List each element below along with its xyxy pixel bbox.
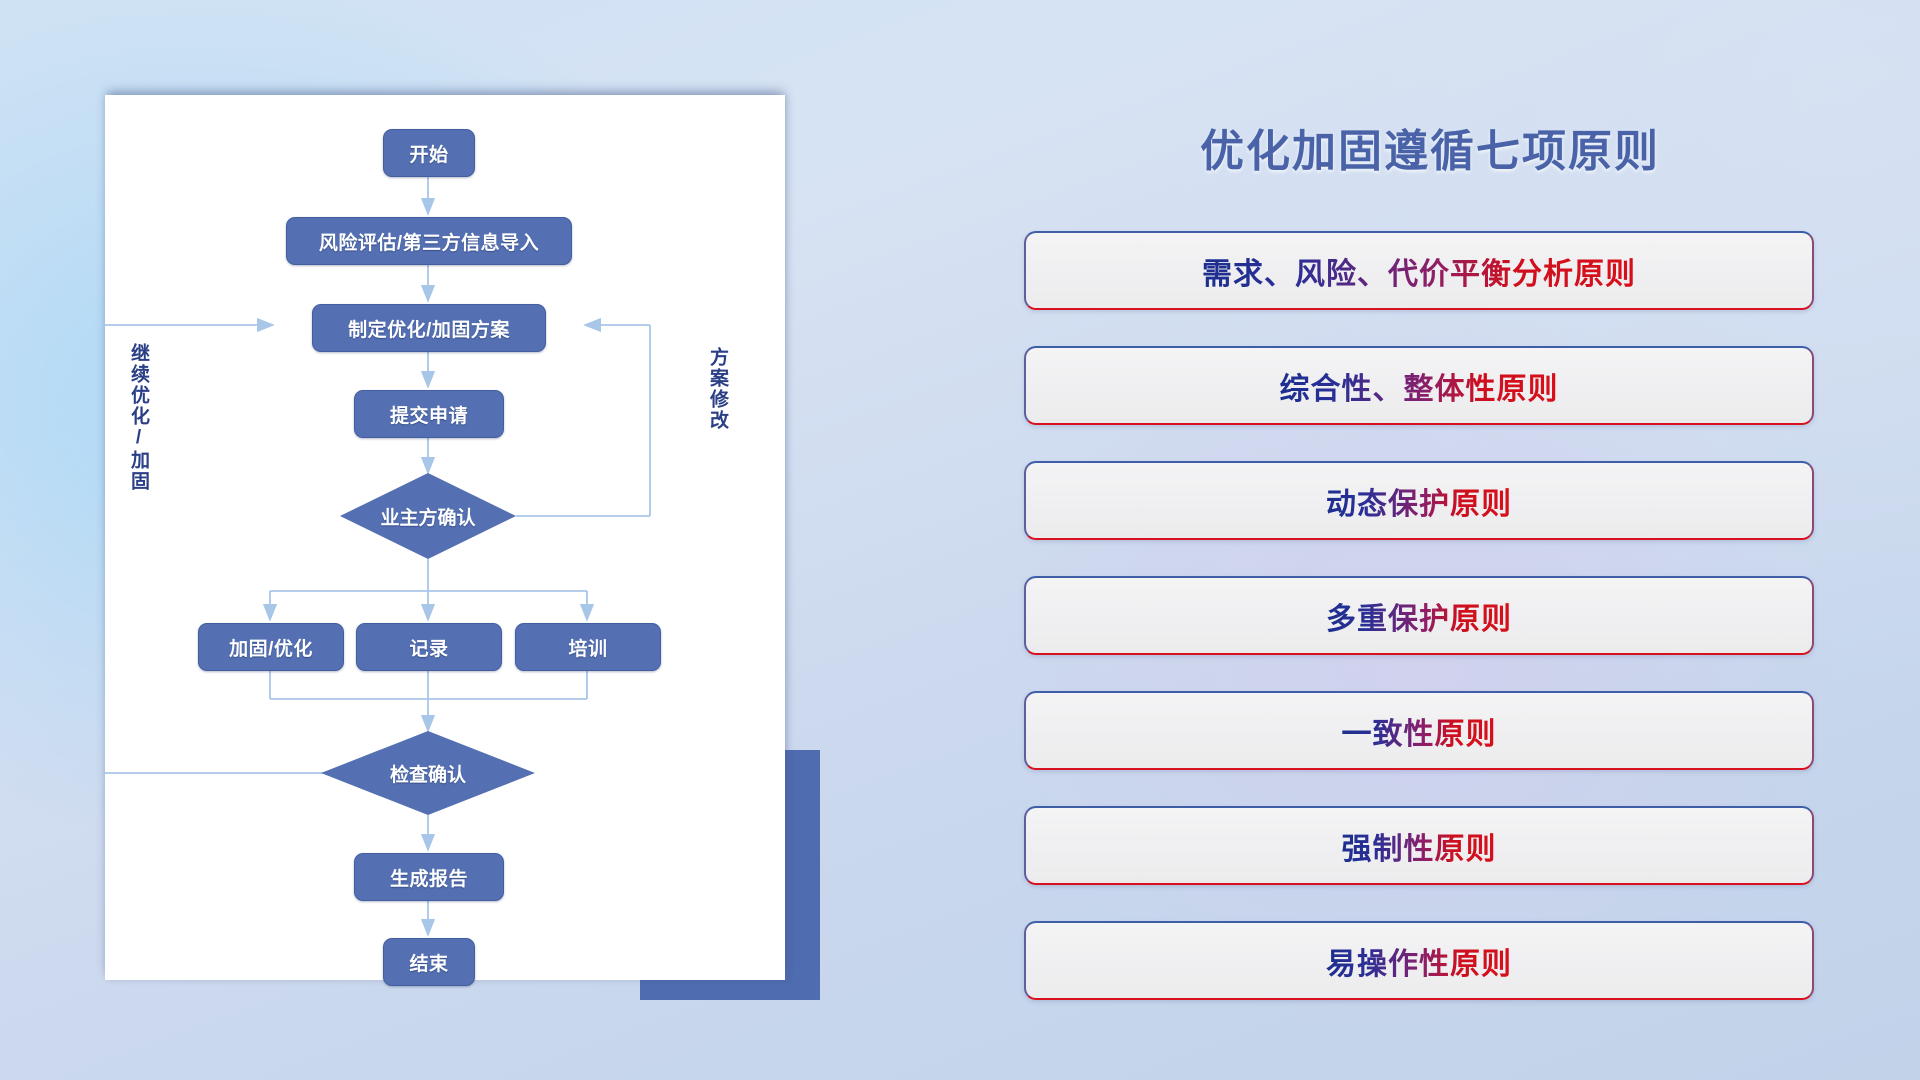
node-label: 培训 <box>568 634 607 661</box>
node-end[interactable]: 结束 <box>383 938 475 986</box>
node-owner-confirm[interactable]: 业主方确认 <box>340 494 516 538</box>
node-risk-assessment[interactable]: 风险评估/第三方信息导入 <box>286 217 572 265</box>
node-label: 加固/优化 <box>229 634 313 661</box>
node-reinforce-optimize[interactable]: 加固/优化 <box>198 623 344 671</box>
principle-card[interactable]: 需求、风险、代价平衡分析原则 <box>1024 231 1814 310</box>
panel-title: 优化加固遵循七项原则 <box>1020 115 1840 179</box>
node-label: 制定优化/加固方案 <box>348 315 510 342</box>
node-label: 业主方确认 <box>380 503 475 530</box>
principle-label: 多重保护原则 <box>1326 594 1512 638</box>
node-label: 提交申请 <box>390 401 468 428</box>
principle-label: 综合性、整体性原则 <box>1280 364 1559 408</box>
node-label: 生成报告 <box>390 864 468 891</box>
flowchart-card: 开始 风险评估/第三方信息导入 制定优化/加固方案 提交申请 业主方确认 加固/… <box>105 95 785 980</box>
principle-card[interactable]: 易操作性原则 <box>1024 921 1814 1000</box>
node-label: 开始 <box>409 140 448 167</box>
node-training[interactable]: 培训 <box>515 623 661 671</box>
node-label: 记录 <box>409 634 448 661</box>
principle-card[interactable]: 综合性、整体性原则 <box>1024 346 1814 425</box>
node-label: 风险评估/第三方信息导入 <box>319 228 539 255</box>
principle-label: 需求、风险、代价平衡分析原则 <box>1202 249 1636 293</box>
node-label: 结束 <box>409 949 448 976</box>
principle-label: 一致性原则 <box>1342 709 1497 753</box>
node-generate-report[interactable]: 生成报告 <box>354 853 504 901</box>
principle-label: 强制性原则 <box>1342 824 1497 868</box>
node-record[interactable]: 记录 <box>356 623 502 671</box>
slide-stage: 开始 风险评估/第三方信息导入 制定优化/加固方案 提交申请 业主方确认 加固/… <box>0 0 1920 1080</box>
principles-panel: 优化加固遵循七项原则 需求、风险、代价平衡分析原则 综合性、整体性原则 动态保护… <box>1020 95 1840 995</box>
node-label: 检查确认 <box>390 760 466 787</box>
principle-label: 动态保护原则 <box>1326 479 1512 523</box>
edge-label-plan-revision: 方案修改 <box>708 347 727 431</box>
node-check-confirm[interactable]: 检查确认 <box>340 751 516 795</box>
principles-list: 需求、风险、代价平衡分析原则 综合性、整体性原则 动态保护原则 多重保护原则 一… <box>1024 231 1814 1036</box>
node-submit-application[interactable]: 提交申请 <box>354 390 504 438</box>
principle-label: 易操作性原则 <box>1326 939 1512 983</box>
principle-card[interactable]: 一致性原则 <box>1024 691 1814 770</box>
flowchart: 开始 风险评估/第三方信息导入 制定优化/加固方案 提交申请 业主方确认 加固/… <box>105 95 785 980</box>
node-start[interactable]: 开始 <box>383 129 475 177</box>
node-make-plan[interactable]: 制定优化/加固方案 <box>312 304 546 352</box>
edge-label-continue-optimize: 继续优化/加固 <box>129 343 148 492</box>
principle-card[interactable]: 动态保护原则 <box>1024 461 1814 540</box>
principle-card[interactable]: 多重保护原则 <box>1024 576 1814 655</box>
principle-card[interactable]: 强制性原则 <box>1024 806 1814 885</box>
